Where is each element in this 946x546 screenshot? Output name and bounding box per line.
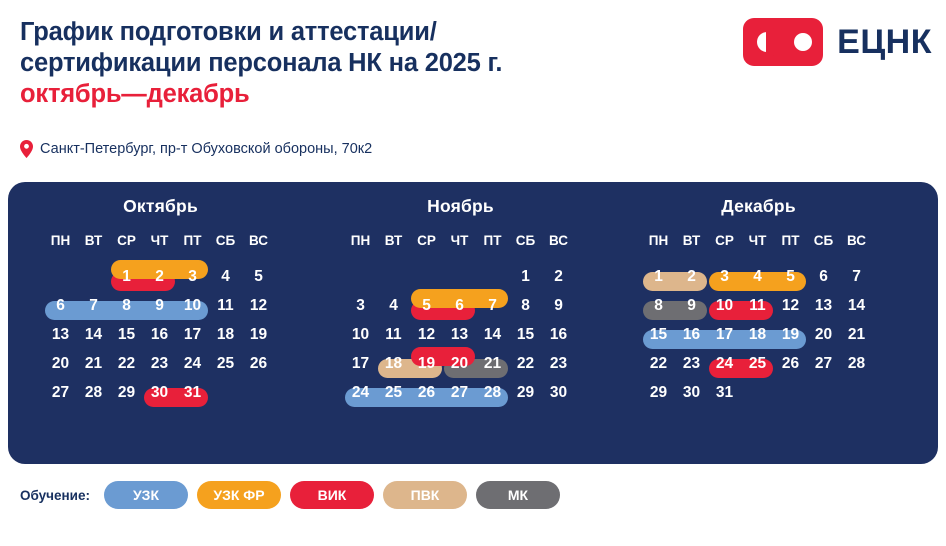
day-cell[interactable]: 17 bbox=[176, 325, 209, 344]
day-cell[interactable]: 4 bbox=[741, 267, 774, 286]
day-cell[interactable]: 10 bbox=[176, 296, 209, 315]
month-name: Декабрь bbox=[642, 196, 875, 217]
day-cell[interactable]: 16 bbox=[675, 325, 708, 344]
day-cell[interactable]: 6 bbox=[44, 296, 77, 315]
day-cell[interactable]: 13 bbox=[443, 325, 476, 344]
week-row: 13141516171819 bbox=[44, 321, 277, 350]
weekday-вт: ВТ bbox=[77, 233, 110, 248]
legend-items: УЗКУЗК ФРВИКПВКМК bbox=[104, 481, 560, 509]
page-title: График подготовки и аттестации/ сертифик… bbox=[20, 17, 680, 110]
week-row: 2728293031 bbox=[44, 379, 277, 408]
day-cell[interactable]: 8 bbox=[642, 296, 675, 315]
weekday-header-row: ПНВТСРЧТПТСБВС bbox=[642, 233, 875, 257]
weekday-ср: СР bbox=[708, 233, 741, 248]
month-2: НоябрьПНВТСРЧТПТСБВС12345678910111213141… bbox=[344, 196, 634, 408]
legend-pill-пвк[interactable]: ПВК bbox=[383, 481, 467, 509]
day-cell[interactable]: 6 bbox=[807, 267, 840, 286]
week-row: 6789101112 bbox=[44, 292, 277, 321]
weeks: 1234567891011121314151617181920212223242… bbox=[44, 263, 277, 408]
day-cell[interactable]: 7 bbox=[840, 267, 873, 286]
calendar-panel: ОктябрьПНВТСРЧТПТСБВС1234567891011121314… bbox=[8, 182, 938, 464]
calendar-infographic: График подготовки и аттестации/ сертифик… bbox=[0, 0, 946, 546]
day-cell[interactable]: 20 bbox=[807, 325, 840, 344]
months-container: ОктябрьПНВТСРЧТПТСБВС1234567891011121314… bbox=[8, 182, 938, 464]
day-cell[interactable]: 28 bbox=[77, 383, 110, 402]
week-row: 12 bbox=[344, 263, 577, 292]
brand-logo: ЕЦНК bbox=[743, 18, 932, 66]
day-cell[interactable]: 23 bbox=[143, 354, 176, 373]
weekday-пн: ПН bbox=[44, 233, 77, 248]
day-cell[interactable]: 11 bbox=[741, 296, 774, 315]
weekday-сб: СБ bbox=[509, 233, 542, 248]
day-cell[interactable]: 22 bbox=[642, 354, 675, 373]
week-row: 1234567 bbox=[642, 263, 875, 292]
day-cell[interactable]: 30 bbox=[675, 383, 708, 402]
legend-label: Обучение: bbox=[20, 488, 90, 503]
weekday-ср: СР bbox=[110, 233, 143, 248]
day-cell[interactable]: 22 bbox=[110, 354, 143, 373]
day-cell[interactable]: 3 bbox=[176, 267, 209, 286]
day-cell[interactable]: 25 bbox=[377, 383, 410, 402]
title-line-1: График подготовки и аттестации/ bbox=[20, 17, 680, 48]
day-cell[interactable]: 19 bbox=[242, 325, 275, 344]
day-cell[interactable]: 16 bbox=[143, 325, 176, 344]
week-row: 12345 bbox=[44, 263, 277, 292]
day-cell[interactable]: 18 bbox=[377, 354, 410, 373]
day-cell[interactable]: 10 bbox=[708, 296, 741, 315]
week-row: 17181920212223 bbox=[344, 350, 577, 379]
day-cell[interactable]: 17 bbox=[708, 325, 741, 344]
weekday-header-row: ПНВТСРЧТПТСБВС bbox=[44, 233, 277, 257]
day-cell[interactable]: 26 bbox=[774, 354, 807, 373]
weekday-пт: ПТ bbox=[774, 233, 807, 248]
day-cell[interactable]: 16 bbox=[542, 325, 575, 344]
day-cell[interactable]: 27 bbox=[807, 354, 840, 373]
day-cell[interactable]: 9 bbox=[542, 296, 575, 315]
logo-dot-glyph bbox=[794, 33, 812, 51]
day-cell[interactable]: 24 bbox=[708, 354, 741, 373]
day-cell[interactable]: 5 bbox=[410, 296, 443, 315]
month-name: Ноябрь bbox=[344, 196, 577, 217]
day-cell[interactable]: 3 bbox=[344, 296, 377, 315]
day-cell[interactable]: 10 bbox=[344, 325, 377, 344]
day-cell[interactable]: 21 bbox=[77, 354, 110, 373]
week-row: 22232425262728 bbox=[642, 350, 875, 379]
day-cell[interactable]: 13 bbox=[44, 325, 77, 344]
day-cell[interactable]: 27 bbox=[44, 383, 77, 402]
day-cell[interactable]: 29 bbox=[642, 383, 675, 402]
weekday-вс: ВС bbox=[840, 233, 873, 248]
title-line-2: сертификации персонала НК на 2025 г. bbox=[20, 48, 680, 79]
day-cell[interactable]: 12 bbox=[774, 296, 807, 315]
day-cell[interactable]: 2 bbox=[675, 267, 708, 286]
ecnk-logo-mark-icon bbox=[743, 18, 823, 66]
day-cell[interactable]: 28 bbox=[476, 383, 509, 402]
month-name: Октябрь bbox=[44, 196, 277, 217]
month-1: ОктябрьПНВТСРЧТПТСБВС1234567891011121314… bbox=[44, 196, 334, 408]
weekday-чт: ЧТ bbox=[143, 233, 176, 248]
map-pin-icon bbox=[20, 140, 33, 158]
legend-pill-вик[interactable]: ВИК bbox=[290, 481, 374, 509]
weeks: 1234567891011121314151617181920212223242… bbox=[642, 263, 875, 408]
day-cell[interactable]: 21 bbox=[840, 325, 873, 344]
day-cell[interactable]: 11 bbox=[377, 325, 410, 344]
day-cell[interactable]: 15 bbox=[110, 325, 143, 344]
weekday-пн: ПН bbox=[344, 233, 377, 248]
day-cell[interactable]: 1 bbox=[509, 267, 542, 286]
day-cell[interactable]: 25 bbox=[209, 354, 242, 373]
day-cell[interactable]: 19 bbox=[410, 354, 443, 373]
day-cell[interactable]: 2 bbox=[143, 267, 176, 286]
logo-text: ЕЦНК bbox=[837, 25, 932, 59]
legend-pill-мк[interactable]: МК bbox=[476, 481, 560, 509]
day-cell[interactable]: 2 bbox=[542, 267, 575, 286]
day-cell[interactable]: 14 bbox=[476, 325, 509, 344]
weekday-пт: ПТ bbox=[176, 233, 209, 248]
day-cell[interactable]: 14 bbox=[840, 296, 873, 315]
day-cell[interactable]: 20 bbox=[44, 354, 77, 373]
day-cell[interactable]: 17 bbox=[344, 354, 377, 373]
day-cell[interactable]: 15 bbox=[642, 325, 675, 344]
logo-e-glyph bbox=[752, 27, 782, 57]
day-cell[interactable]: 9 bbox=[675, 296, 708, 315]
day-cell[interactable]: 20 bbox=[443, 354, 476, 373]
day-cell[interactable]: 21 bbox=[476, 354, 509, 373]
week-row: 20212223242526 bbox=[44, 350, 277, 379]
day-cell[interactable]: 27 bbox=[443, 383, 476, 402]
weekday-чт: ЧТ bbox=[741, 233, 774, 248]
day-cell[interactable]: 30 bbox=[542, 383, 575, 402]
legend-pill-узк-фр[interactable]: УЗК ФР bbox=[197, 481, 281, 509]
day-cell[interactable]: 14 bbox=[77, 325, 110, 344]
weekday-вс: ВС bbox=[242, 233, 275, 248]
weekday-пн: ПН bbox=[642, 233, 675, 248]
weekday-сб: СБ bbox=[209, 233, 242, 248]
day-cell[interactable]: 23 bbox=[542, 354, 575, 373]
day-cell[interactable]: 28 bbox=[840, 354, 873, 373]
weekday-ср: СР bbox=[410, 233, 443, 248]
day-cell[interactable]: 25 bbox=[741, 354, 774, 373]
week-row: 10111213141516 bbox=[344, 321, 577, 350]
legend-pill-узк[interactable]: УЗК bbox=[104, 481, 188, 509]
day-cell[interactable]: 7 bbox=[77, 296, 110, 315]
day-cell[interactable]: 4 bbox=[209, 267, 242, 286]
day-cell[interactable]: 3 bbox=[708, 267, 741, 286]
weekday-чт: ЧТ bbox=[443, 233, 476, 248]
day-cell[interactable]: 11 bbox=[209, 296, 242, 315]
day-cell[interactable]: 19 bbox=[774, 325, 807, 344]
day-cell[interactable]: 24 bbox=[176, 354, 209, 373]
day-cell[interactable]: 15 bbox=[509, 325, 542, 344]
weekday-вс: ВС bbox=[542, 233, 575, 248]
weeks: 1234567891011121314151617181920212223242… bbox=[344, 263, 577, 408]
weekday-пт: ПТ bbox=[476, 233, 509, 248]
week-row: 15161718192021 bbox=[642, 321, 875, 350]
legend: Обучение: УЗКУЗК ФРВИКПВКМК bbox=[20, 481, 560, 509]
day-cell[interactable]: 24 bbox=[344, 383, 377, 402]
weekday-вт: ВТ bbox=[377, 233, 410, 248]
day-cell[interactable]: 8 bbox=[509, 296, 542, 315]
weekday-сб: СБ bbox=[807, 233, 840, 248]
week-row: 293031 bbox=[642, 379, 875, 408]
address: Санкт-Петербург, пр-т Обуховской обороны… bbox=[20, 140, 372, 158]
header: График подготовки и аттестации/ сертифик… bbox=[0, 0, 946, 182]
day-cell[interactable]: 22 bbox=[509, 354, 542, 373]
day-cell[interactable]: 9 bbox=[143, 296, 176, 315]
day-cell[interactable]: 26 bbox=[242, 354, 275, 373]
day-cell[interactable]: 7 bbox=[476, 296, 509, 315]
day-cell[interactable]: 12 bbox=[242, 296, 275, 315]
day-cell[interactable]: 5 bbox=[242, 267, 275, 286]
week-row: 3456789 bbox=[344, 292, 577, 321]
week-row: 891011121314 bbox=[642, 292, 875, 321]
day-cell[interactable]: 5 bbox=[774, 267, 807, 286]
day-cell[interactable]: 30 bbox=[143, 383, 176, 402]
day-cell[interactable]: 13 bbox=[807, 296, 840, 315]
day-cell[interactable]: 6 bbox=[443, 296, 476, 315]
weekday-вт: ВТ bbox=[675, 233, 708, 248]
day-cell[interactable]: 31 bbox=[708, 383, 741, 402]
day-cell[interactable]: 31 bbox=[176, 383, 209, 402]
week-row: 24252627282930 bbox=[344, 379, 577, 408]
day-cell[interactable]: 18 bbox=[209, 325, 242, 344]
day-cell[interactable]: 29 bbox=[509, 383, 542, 402]
day-cell[interactable]: 26 bbox=[410, 383, 443, 402]
day-cell[interactable]: 23 bbox=[675, 354, 708, 373]
month-3: ДекабрьПНВТСРЧТПТСБВС1234567891011121314… bbox=[642, 196, 932, 408]
day-cell[interactable]: 12 bbox=[410, 325, 443, 344]
day-cell[interactable]: 18 bbox=[741, 325, 774, 344]
day-cell[interactable]: 8 bbox=[110, 296, 143, 315]
day-cell[interactable]: 4 bbox=[377, 296, 410, 315]
day-cell[interactable]: 1 bbox=[110, 267, 143, 286]
weekday-header-row: ПНВТСРЧТПТСБВС bbox=[344, 233, 577, 257]
address-text: Санкт-Петербург, пр-т Обуховской обороны… bbox=[40, 141, 372, 157]
day-cell[interactable]: 1 bbox=[642, 267, 675, 286]
day-cell[interactable]: 29 bbox=[110, 383, 143, 402]
title-line-3-period: октябрь—декабрь bbox=[20, 79, 680, 110]
